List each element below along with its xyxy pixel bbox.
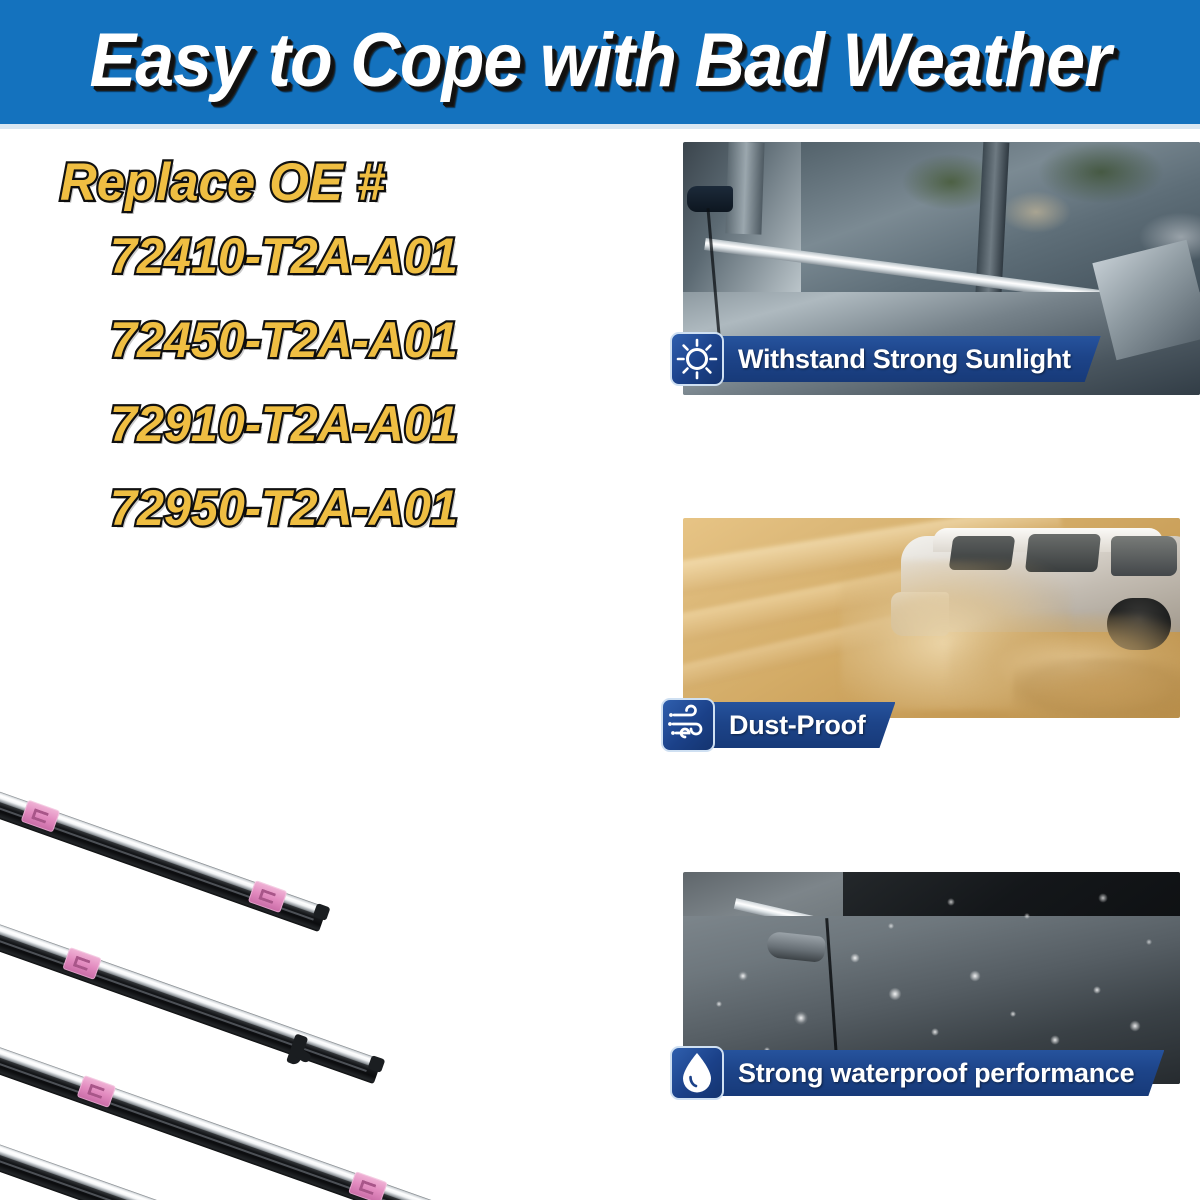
status-badge: Strong waterproof performance — [670, 1050, 1164, 1096]
oe-section-heading: Replace OE # — [60, 152, 609, 213]
feature-panel-dustproof: Dust-Proof — [683, 518, 1180, 718]
status-badge-label: Strong waterproof performance — [738, 1058, 1134, 1089]
feature-panel-sunlight: Withstand Strong Sunlight — [683, 142, 1200, 395]
sun-icon — [670, 332, 724, 386]
page-title: Easy to Cope with Bad Weather — [48, 0, 1152, 124]
wind-dust-icon — [661, 698, 715, 752]
status-badge-label: Withstand Strong Sunlight — [738, 344, 1071, 375]
status-badge: Dust-Proof — [661, 702, 895, 748]
product-photo-moldings — [0, 672, 668, 1200]
badge-bar: Strong waterproof performance — [694, 1050, 1164, 1096]
water-drop-icon — [670, 1046, 724, 1100]
side-mirror — [687, 186, 733, 212]
status-badge: Withstand Strong Sunlight — [670, 336, 1101, 382]
status-badge-label: Dust-Proof — [729, 710, 865, 741]
list-item: 72450-T2A-A01 — [110, 311, 616, 369]
badge-bar: Dust-Proof — [685, 702, 895, 748]
weatherstrip-molding — [0, 751, 327, 932]
suv-window — [1111, 536, 1177, 576]
list-item: 72910-T2A-A01 — [110, 395, 616, 453]
weatherstrip-molding — [0, 873, 382, 1084]
oe-number-list: 72410-T2A-A01 72450-T2A-A01 72910-T2A-A0… — [52, 227, 632, 537]
list-item: 72950-T2A-A01 — [110, 479, 616, 537]
feature-photo-dustproof — [683, 518, 1180, 718]
product-marketing-image: Easy to Cope with Bad Weather Replace OE… — [0, 0, 1200, 1200]
feature-panel-waterproof: Strong waterproof performance — [683, 872, 1180, 1084]
banner-underline — [0, 124, 1200, 129]
badge-bar: Withstand Strong Sunlight — [694, 336, 1101, 382]
oe-number-section: Replace OE # 72410-T2A-A01 72450-T2A-A01… — [52, 152, 632, 563]
list-item: 72410-T2A-A01 — [110, 227, 616, 285]
dust-cloud — [1013, 658, 1180, 718]
